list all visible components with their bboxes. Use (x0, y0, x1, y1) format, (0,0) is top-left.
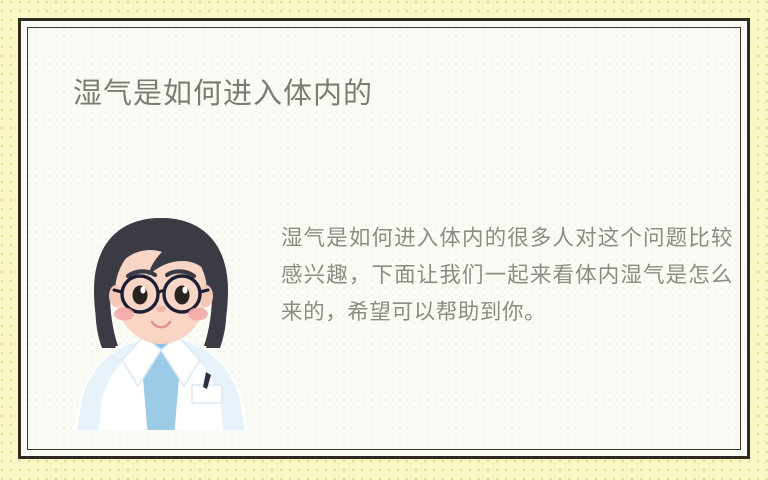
page-title: 湿气是如何进入体内的 (73, 70, 373, 112)
avatar (66, 210, 256, 430)
nose (156, 306, 166, 313)
glasses-temple-right (200, 290, 208, 292)
article-card-inner-frame: 湿气是如何进入体内的 (27, 27, 741, 450)
glasses-bridge (158, 291, 164, 293)
eye-highlight-right (182, 286, 187, 293)
eye-highlight-left (140, 286, 145, 293)
glasses-temple-left (114, 290, 122, 292)
female-doctor-avatar-illustration (66, 210, 256, 430)
article-body-text: 湿气是如何进入体内的很多人对这个问题比较感兴趣，下面让我们一起来看体内湿气是怎么… (281, 220, 733, 331)
article-card: 湿气是如何进入体内的 (18, 18, 750, 459)
blush-right (188, 308, 208, 321)
page-background: 湿气是如何进入体内的 (0, 0, 768, 480)
blush-left (114, 308, 134, 321)
